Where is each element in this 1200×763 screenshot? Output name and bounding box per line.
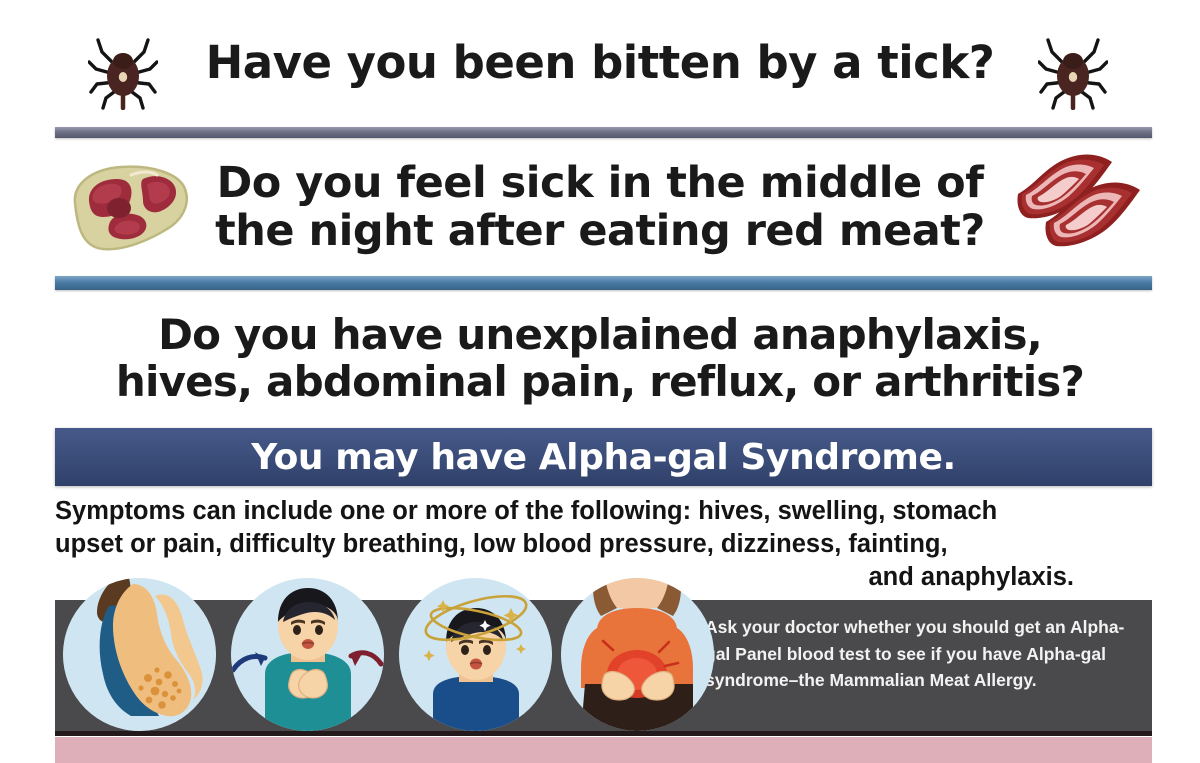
divider-slate — [55, 127, 1152, 138]
symptom-illustrations — [55, 578, 695, 731]
question-1-row: Have you been bitten by a tick? — [0, 0, 1200, 126]
stomach-pain-illustration — [561, 578, 714, 731]
bacon-icon — [1006, 148, 1152, 265]
panel-bottom-edge — [55, 731, 1152, 736]
question-3-line-1: Do you have unexplained anaphylaxis, — [158, 310, 1042, 359]
question-3-line-2: hives, abdominal pain, reflux, or arthri… — [116, 357, 1084, 406]
dizziness-illustration — [399, 578, 552, 731]
symptoms-line-2: upset or pain, difficulty breathing, low… — [55, 528, 1152, 561]
question-2-line-1: Do you feel sick in the middle of — [217, 158, 984, 208]
symptoms-line-1: Symptoms can include one or more of the … — [55, 495, 1152, 528]
answer-banner: You may have Alpha-gal Syndrome. — [55, 428, 1152, 486]
pink-bottom-strip — [55, 737, 1152, 763]
hives-rash-arm-illustration — [63, 578, 216, 731]
question-2-line-2: the night after eating red meat? — [215, 206, 985, 256]
alpha-gal-syndrome-infographic: Have you been bitten by a tick? — [0, 0, 1200, 763]
difficulty-breathing-illustration — [231, 578, 384, 731]
tick-icon — [88, 38, 158, 115]
answer-banner-text: You may have Alpha-gal Syndrome. — [251, 437, 956, 478]
tick-icon — [1038, 38, 1108, 115]
question-3-text: Do you have unexplained anaphylaxis, hiv… — [65, 311, 1135, 406]
question-3-row: Do you have unexplained anaphylaxis, hiv… — [0, 296, 1200, 420]
divider-blue — [55, 276, 1152, 290]
steak-icon — [55, 157, 195, 266]
question-1-text: Have you been bitten by a tick? — [206, 39, 995, 86]
question-2-text: Do you feel sick in the middle of the ni… — [180, 159, 1020, 255]
advice-text: Ask your doctor whether you should get a… — [705, 614, 1137, 694]
